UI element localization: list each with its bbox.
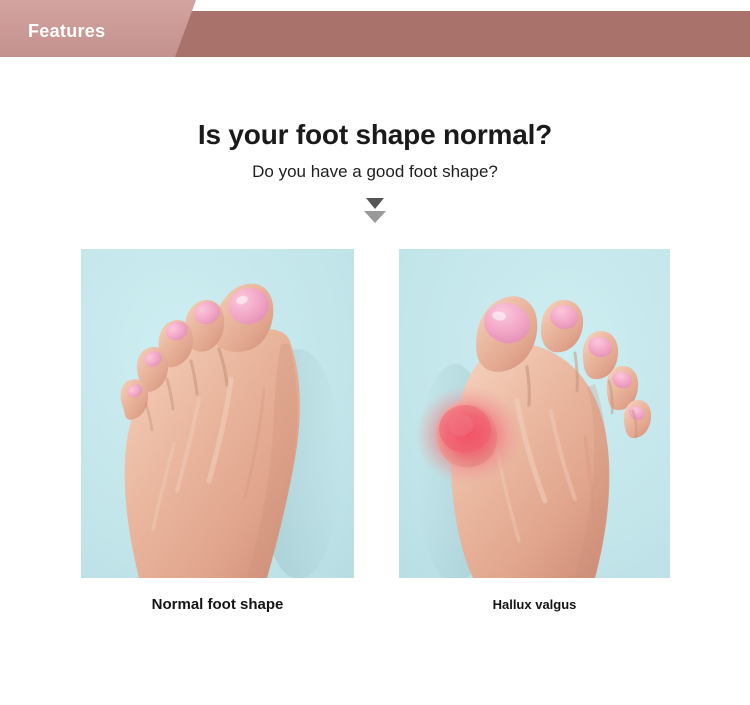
normal-foot-photo — [81, 249, 354, 578]
features-banner: Features — [0, 0, 750, 58]
bunion-foot-illustration — [399, 249, 670, 578]
normal-foot-illustration — [81, 249, 354, 578]
hallux-valgus-photo — [399, 249, 670, 578]
caption-normal-foot: Normal foot shape — [81, 596, 354, 613]
arrow-container — [0, 196, 750, 230]
page-subtitle: Do you have a good foot shape? — [0, 161, 750, 183]
foot-comparison-row — [0, 249, 750, 579]
banner-title: Features — [28, 21, 105, 41]
page-title: Is your foot shape normal? — [0, 118, 750, 152]
heading-block: Is your foot shape normal? Do you have a… — [0, 118, 750, 183]
double-chevron-down-icon — [359, 196, 391, 228]
caption-hallux-valgus: Hallux valgus — [399, 597, 670, 612]
